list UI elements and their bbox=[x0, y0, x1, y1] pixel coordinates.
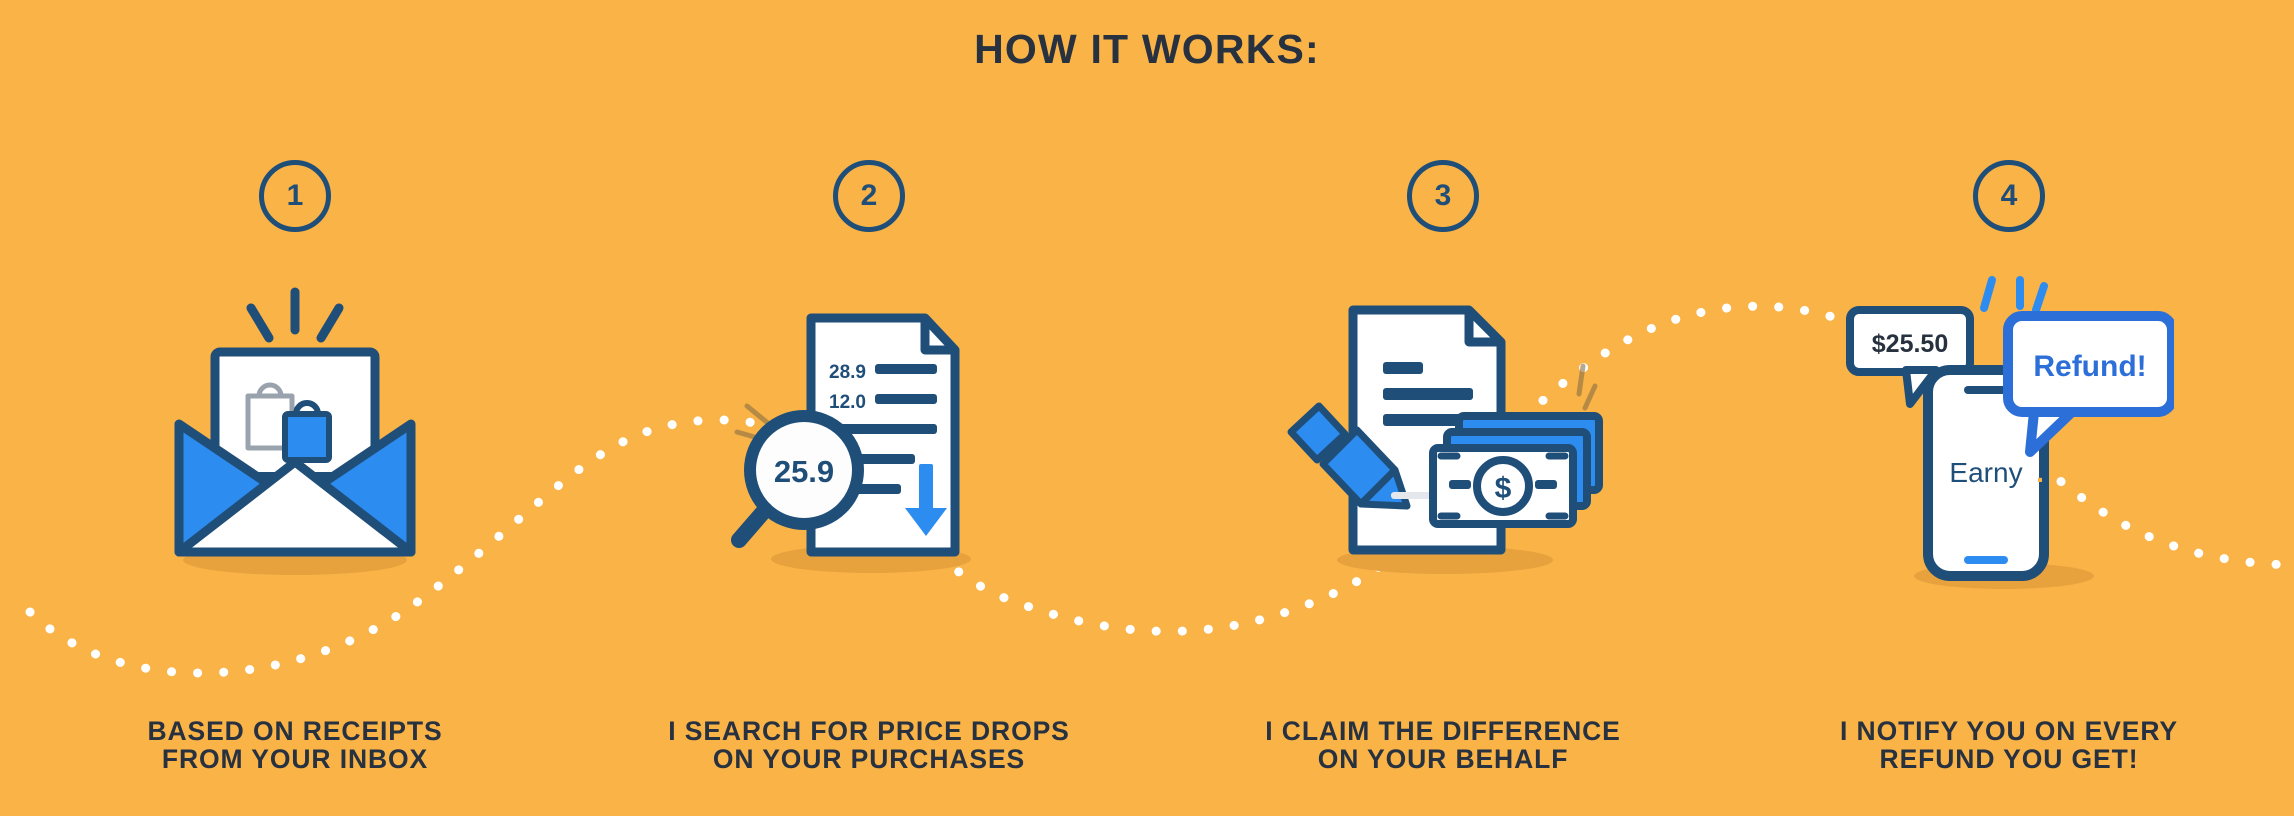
phone-with-refund-notification-icon: $25.50 Earny . Refund! bbox=[1844, 274, 2174, 604]
step-3-illustration: $ bbox=[1156, 274, 1730, 624]
step-number-badge-4: 4 bbox=[1973, 160, 2045, 232]
how-it-works-banner: HOW IT WORKS: 1 bbox=[0, 0, 2294, 816]
step-number-3: 3 bbox=[1435, 181, 1452, 211]
step-1-illustration bbox=[8, 274, 582, 624]
step-number-badge-1: 1 bbox=[259, 160, 331, 232]
doc-value-2: 12.0 bbox=[829, 392, 866, 413]
magnifier-value: 25.9 bbox=[774, 454, 834, 489]
step-1: 1 bbox=[8, 160, 582, 780]
doc-value-1: 28.9 bbox=[829, 362, 866, 383]
step-number-badge-3: 3 bbox=[1407, 160, 1479, 232]
step-number-1: 1 bbox=[287, 181, 304, 211]
refund-bubble: Refund! bbox=[2008, 316, 2172, 452]
step-2-caption: I SEARCH FOR PRICE DROPS ON YOUR PURCHAS… bbox=[582, 718, 1156, 774]
open-envelope-with-receipt-icon bbox=[145, 274, 445, 584]
step-number-2: 2 bbox=[861, 181, 878, 211]
step-4-caption-line1: I NOTIFY YOU ON EVERY bbox=[1722, 718, 2294, 746]
bill-dollar-symbol: $ bbox=[1495, 472, 1512, 505]
phone-app-name: Earny bbox=[1949, 457, 2022, 488]
step-1-caption-line2: FROM YOUR INBOX bbox=[8, 746, 582, 774]
step-1-caption-line1: BASED ON RECEIPTS bbox=[8, 718, 582, 746]
step-1-caption: BASED ON RECEIPTS FROM YOUR INBOX bbox=[8, 718, 582, 774]
step-2: 2 28.9 12.0 bbox=[582, 160, 1156, 780]
magnifier-over-price-document-icon: 28.9 12.0 bbox=[719, 274, 1019, 584]
step-2-illustration: 28.9 12.0 bbox=[582, 274, 1156, 624]
step-4-illustration: $25.50 Earny . Refund! bbox=[1722, 274, 2294, 624]
step-3-caption: I CLAIM THE DIFFERENCE ON YOUR BEHALF bbox=[1156, 718, 1730, 774]
step-4-caption: I NOTIFY YOU ON EVERY REFUND YOU GET! bbox=[1722, 718, 2294, 774]
phone-app-dot: . bbox=[2036, 457, 2044, 488]
step-number-badge-2: 2 bbox=[833, 160, 905, 232]
step-number-4: 4 bbox=[2001, 181, 2018, 211]
claim-document-with-pen-and-cash-icon: $ bbox=[1283, 274, 1603, 584]
step-3-caption-line2: ON YOUR BEHALF bbox=[1156, 746, 1730, 774]
step-3-caption-line1: I CLAIM THE DIFFERENCE bbox=[1156, 718, 1730, 746]
step-2-caption-line2: ON YOUR PURCHASES bbox=[582, 746, 1156, 774]
step-3: 3 bbox=[1156, 160, 1730, 780]
amount-bubble-text: $25.50 bbox=[1872, 330, 1948, 358]
step-4-caption-line2: REFUND YOU GET! bbox=[1722, 746, 2294, 774]
refund-bubble-text: Refund! bbox=[2033, 350, 2146, 383]
step-2-caption-line1: I SEARCH FOR PRICE DROPS bbox=[582, 718, 1156, 746]
step-4: 4 $25.50 bbox=[1722, 160, 2294, 780]
